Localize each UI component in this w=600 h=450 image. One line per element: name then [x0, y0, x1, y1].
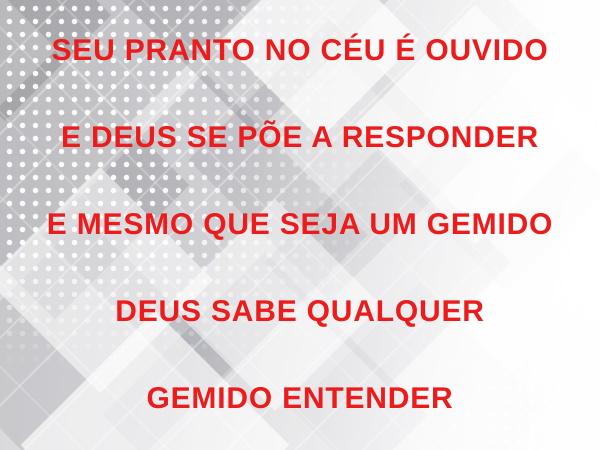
lyric-line-4: DEUS SABE QUALQUER	[0, 297, 600, 327]
lyric-line-3: E MESMO QUE SEJA UM GEMIDO	[0, 210, 600, 240]
lyric-line-1: SEU PRANTO NO CÉU É OUVIDO	[0, 36, 600, 66]
lyric-line-5: GEMIDO ENTENDER	[0, 384, 600, 414]
lyrics-container: SEU PRANTO NO CÉU É OUVIDO E DEUS SE PÕE…	[0, 0, 600, 450]
lyric-slide: SEU PRANTO NO CÉU É OUVIDO E DEUS SE PÕE…	[0, 0, 600, 450]
lyric-line-2: E DEUS SE PÕE A RESPONDER	[0, 123, 600, 153]
